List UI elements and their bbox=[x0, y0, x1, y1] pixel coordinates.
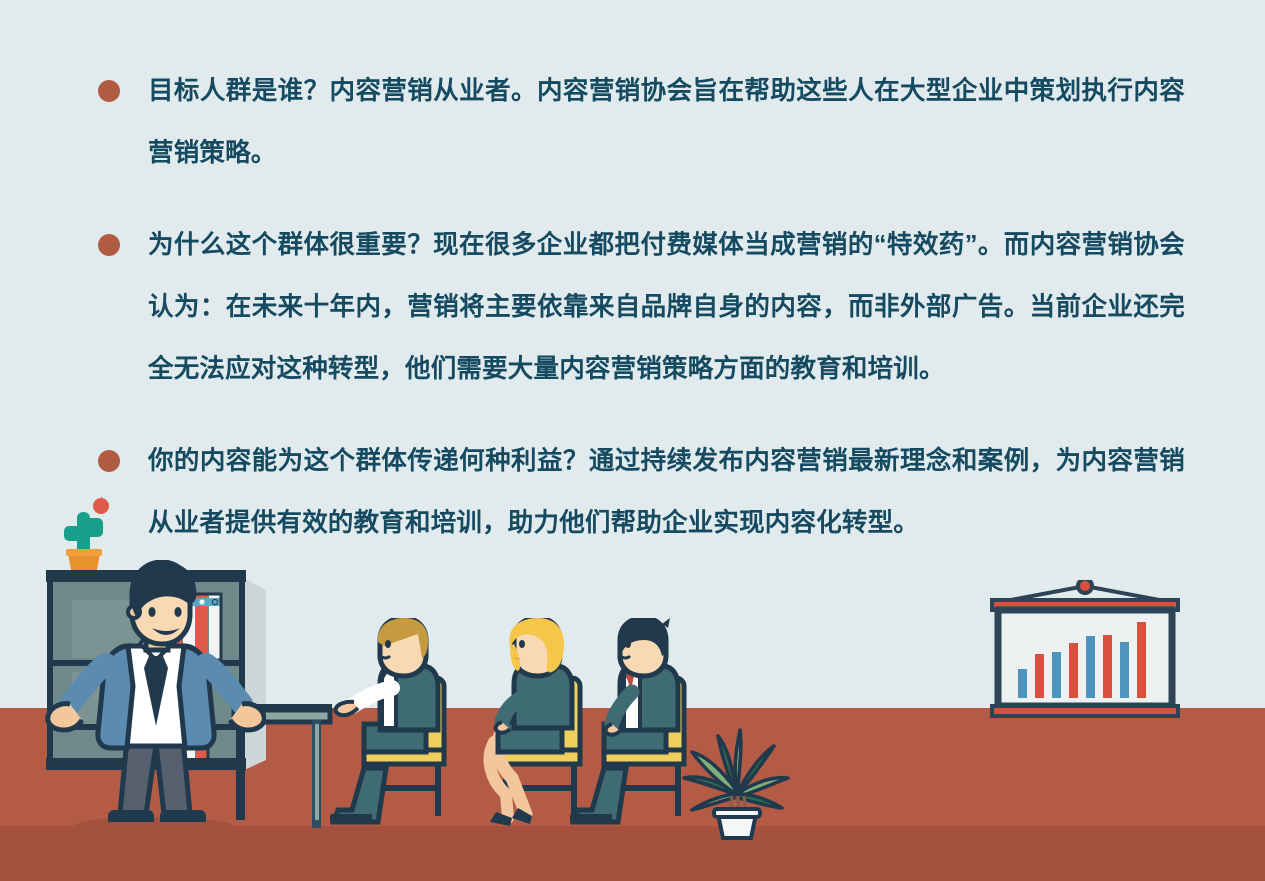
bullet-target-audience: 目标人群是谁？内容营销从业者。内容营销协会旨在帮助这些人在大型企业中策划执行内容… bbox=[0, 60, 1265, 184]
audience-member-1 bbox=[330, 618, 480, 833]
presenter-figure bbox=[36, 560, 266, 835]
bullet-text: 为什么这个群体很重要？现在很多企业都把付费媒体当成营销的“特效药”。而内容营销协… bbox=[148, 214, 1185, 400]
floor-plant bbox=[678, 726, 794, 842]
bullet-dot-icon bbox=[98, 234, 120, 256]
bullet-dot-icon bbox=[98, 80, 120, 102]
bullet-value-delivered: 你的内容能为这个群体传递何种利益？通过持续发布内容营销最新理念和案例，为内容营销… bbox=[0, 430, 1265, 554]
presentation-slide: 目标人群是谁？内容营销从业者。内容营销协会旨在帮助这些人在大型企业中策划执行内容… bbox=[0, 0, 1265, 881]
chart-board bbox=[982, 580, 1188, 732]
bullet-why-important: 为什么这个群体很重要？现在很多企业都把付费媒体当成营销的“特效药”。而内容营销协… bbox=[0, 214, 1265, 400]
bullet-text: 你的内容能为这个群体传递何种利益？通过持续发布内容营销最新理念和案例，为内容营销… bbox=[148, 430, 1185, 554]
bullet-dot-icon bbox=[98, 450, 120, 472]
bullet-text: 目标人群是谁？内容营销从业者。内容营销协会旨在帮助这些人在大型企业中策划执行内容… bbox=[148, 60, 1185, 184]
